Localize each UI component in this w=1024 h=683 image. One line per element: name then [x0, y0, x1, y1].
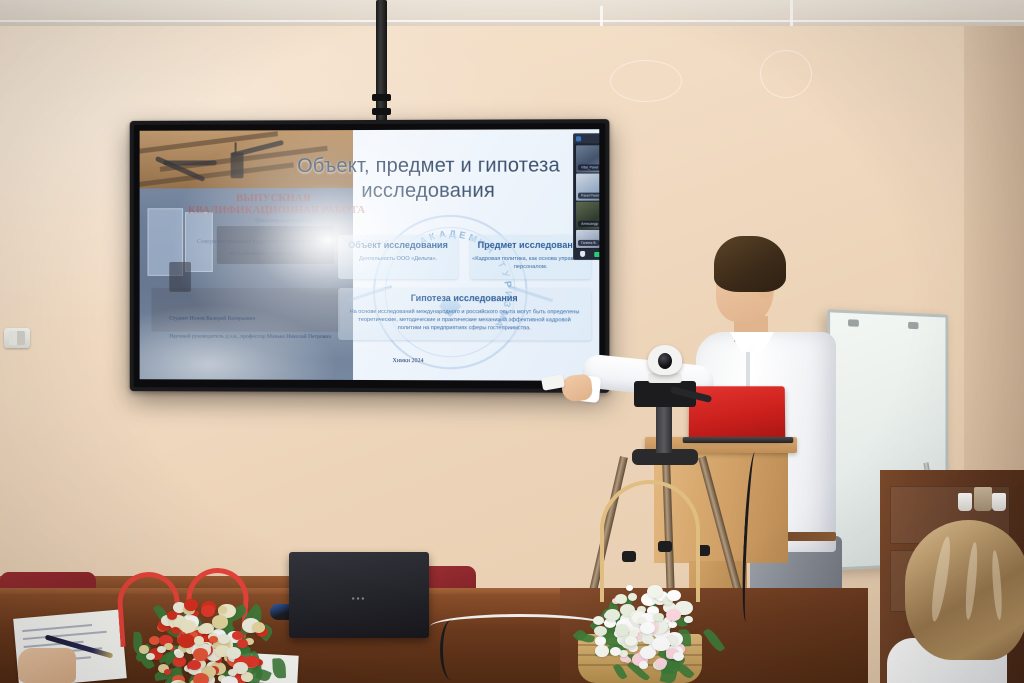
photo-scene: АКАДЕМИЯ ТУРИЗМА ВЫПУСКНАЯ КВАЛИФИКАЦИОН…: [0, 0, 1024, 683]
slide-box-hypothesis: Гипотеза исследования На основе исследов…: [338, 288, 591, 341]
slide-title-line-1: Объект, предмет и гипотеза: [258, 153, 599, 179]
flower-arrangement-center: [560, 560, 730, 670]
woman-hair: [905, 520, 1024, 660]
flower-leaf: [703, 627, 725, 653]
tv-screen: АКАДЕМИЯ ТУРИЗМА ВЫПУСКНАЯ КВАЛИФИКАЦИОН…: [140, 129, 600, 381]
flower-petal: [610, 647, 621, 656]
flower-petal: [193, 673, 209, 683]
vc-tile-2-name: Pavel Pavel: [578, 193, 599, 199]
flower-petal: [639, 661, 648, 668]
screen-glare-secondary: [140, 305, 338, 381]
vc-tile-2[interactable]: Pavel Pavel: [576, 173, 599, 200]
vc-tile-4[interactable]: Галина В.: [576, 230, 599, 248]
black-cable: [440, 620, 463, 680]
flower-petal: [668, 621, 677, 628]
flower-petal: [188, 660, 201, 670]
flower-arrangement-left: [108, 588, 298, 683]
vc-tile-3-name: Александр М.: [578, 221, 599, 227]
camera-icon[interactable]: [594, 251, 599, 256]
slide-box-hypothesis-heading: Гипотеза исследования: [338, 293, 591, 303]
flower-petal: [252, 622, 265, 633]
flower-petal: [194, 636, 205, 645]
flower-petal: [615, 624, 629, 636]
vc-control-bar: [574, 249, 599, 259]
flower-petal: [653, 613, 663, 621]
flower-petal: [684, 616, 692, 623]
flower-leaf: [578, 632, 596, 644]
flower-petal: [221, 676, 238, 683]
flower-petal: [232, 631, 243, 640]
vc-tile-4-name: Галина В.: [578, 240, 599, 246]
flower-petal: [652, 637, 669, 651]
flower-petal: [640, 622, 655, 634]
flower-petal: [178, 634, 194, 647]
table-dark-laptop[interactable]: ▪▪▪: [289, 552, 429, 638]
flower-petal: [667, 590, 680, 601]
flower-leaf: [273, 658, 287, 679]
vc-tile-1-name: Vital_Pavel: [578, 164, 599, 170]
slide-box-hypothesis-body: На основе исследований международного и …: [338, 308, 591, 333]
slide-box-object-heading: Объект исследования: [338, 240, 458, 250]
flower-petal: [228, 669, 236, 676]
vc-tile-3[interactable]: Александр М.: [576, 202, 599, 229]
audience-left-hand: [18, 648, 76, 683]
flower-petal: [209, 636, 217, 643]
flower-petal: [628, 593, 637, 601]
slide-box-object: Объект исследования Деятельность ООО «Де…: [338, 235, 458, 279]
flower-petal: [201, 605, 215, 617]
slide-box-object-body: Деятельность ООО «Дельта».: [338, 255, 458, 263]
flower-petal: [626, 585, 633, 591]
microphone-icon[interactable]: [580, 250, 585, 256]
flower-petal: [673, 652, 684, 661]
flower-petal: [615, 594, 627, 603]
flower-petal: [212, 615, 229, 629]
paper-cups: [958, 487, 1008, 511]
slide-place-year: Химки 2024: [348, 358, 468, 364]
flower-petal: [180, 620, 196, 633]
ghost-subheading: (бакалаврская работа): [199, 218, 368, 224]
webcam-lens: [658, 353, 672, 369]
flower-petal: [218, 606, 227, 613]
flower-petal: [593, 616, 604, 625]
laptop-logo: ▪▪▪: [352, 594, 367, 603]
flower-petal: [605, 609, 620, 621]
vc-app-icon: [576, 136, 581, 141]
flower-petal: [157, 646, 166, 654]
flower-petal: [594, 626, 606, 636]
flower-petal: [175, 651, 184, 658]
flower-petal: [241, 672, 252, 681]
presenter-hair: [714, 236, 786, 292]
presenter-hand: [561, 374, 594, 403]
flower-petal: [595, 645, 609, 656]
flower-petal: [146, 653, 155, 660]
vc-tile-1[interactable]: Vital_Pavel: [576, 145, 599, 172]
presentation-slide: АКАДЕМИЯ ТУРИЗМА ВЫПУСКНАЯ КВАЛИФИКАЦИОН…: [140, 129, 600, 381]
slide-title-line-2: исследования: [258, 179, 599, 205]
flower-petal: [655, 658, 667, 668]
video-conference-panel[interactable]: Vital_Pavel Pavel Pavel Александр М. Гал…: [573, 133, 599, 260]
slide-title: Объект, предмет и гипотеза исследования: [258, 153, 599, 204]
wall-light-switch[interactable]: [4, 328, 30, 348]
flipchart-clip-right[interactable]: [908, 322, 918, 329]
wall-mounted-tv: АКАДЕМИЯ ТУРИЗМА ВЫПУСКНАЯ КВАЛИФИКАЦИОН…: [130, 119, 610, 393]
ghost-heading-2: КВАЛИФИКАЦИОННАЯ РАБОТА: [157, 204, 396, 216]
flower-petal: [193, 648, 209, 661]
flipchart-clip-left[interactable]: [848, 319, 859, 327]
audience-right-woman: [905, 520, 1024, 683]
vc-titlebar: [574, 134, 599, 143]
